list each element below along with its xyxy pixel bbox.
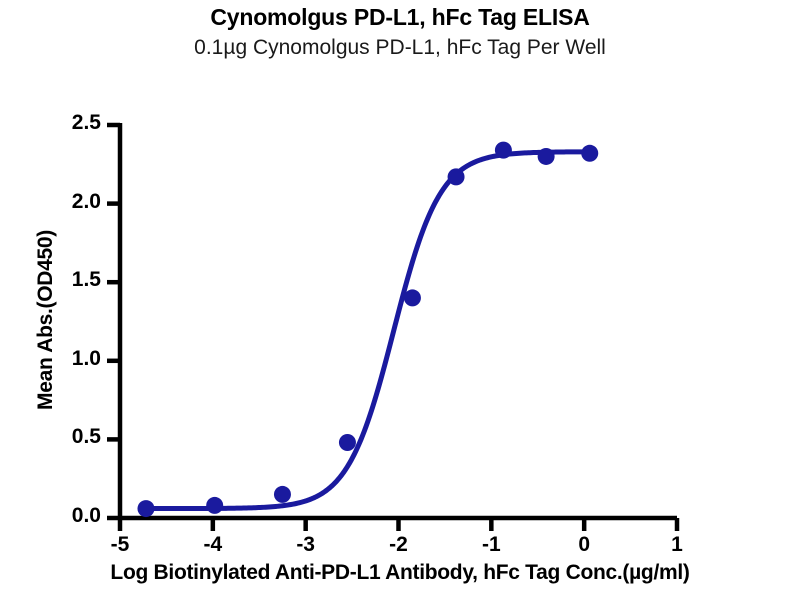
data-point-5	[448, 168, 465, 185]
x-tick-label-5: 0	[544, 533, 624, 557]
elisa-chart-figure: Cynomolgus PD-L1, hFc Tag ELISA 0.1µg Cy…	[0, 0, 800, 600]
data-point-3	[339, 434, 356, 451]
sigmoid-fit-line	[146, 152, 590, 509]
x-tick-label-2: -3	[266, 533, 346, 557]
data-point-6	[495, 142, 512, 159]
plot-area	[0, 0, 800, 600]
data-point-2	[274, 486, 291, 503]
y-tick-label-0: 0.0	[13, 504, 101, 528]
x-tick-label-1: -4	[173, 533, 253, 557]
y-tick-label-3: 1.5	[13, 268, 101, 292]
y-tick-label-2: 1.0	[13, 347, 101, 371]
x-tick-label-6: 1	[637, 533, 717, 557]
y-tick-label-5: 2.5	[13, 111, 101, 135]
axes	[107, 123, 677, 531]
data-point-4	[404, 289, 421, 306]
x-tick-label-0: -5	[80, 533, 160, 557]
x-tick-label-3: -2	[359, 533, 439, 557]
data-points	[137, 142, 598, 517]
data-point-1	[206, 497, 223, 514]
x-tick-label-4: -1	[451, 533, 531, 557]
data-point-8	[581, 145, 598, 162]
y-tick-label-1: 0.5	[13, 425, 101, 449]
fit-curve	[146, 152, 590, 509]
data-point-7	[538, 148, 555, 165]
y-tick-label-4: 2.0	[13, 190, 101, 214]
data-point-0	[137, 500, 154, 517]
